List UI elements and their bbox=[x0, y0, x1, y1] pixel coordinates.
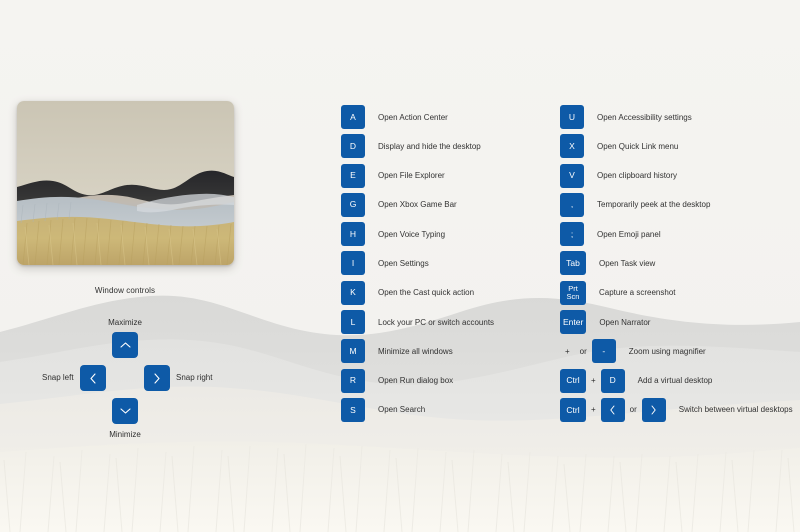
shortcut-row: KOpen the Cast quick action bbox=[341, 281, 494, 310]
shortcut-description: Open Xbox Game Bar bbox=[378, 193, 457, 217]
chevron-right-icon bbox=[153, 373, 161, 384]
shortcut-row: +or-Zoom using magnifier bbox=[560, 339, 793, 368]
shortcut-keys: XOpen Quick Link menu bbox=[560, 134, 678, 158]
shortcut-description: Open Run dialog box bbox=[378, 369, 453, 393]
shortcut-row: ,Temporarily peek at the desktop bbox=[560, 193, 793, 222]
shortcut-keys: AOpen Action Center bbox=[341, 105, 448, 129]
shortcut-description: Open the Cast quick action bbox=[378, 281, 474, 305]
shortcut-keys: IOpen Settings bbox=[341, 251, 429, 275]
shortcut-description: Zoom using magnifier bbox=[629, 339, 706, 363]
window-controls-cluster: Maximize Snap left Snap right Minimize bbox=[0, 310, 250, 440]
shortcut-keys: Ctrl+orSwitch between virtual desktops bbox=[560, 398, 793, 422]
shortcut-description: Open Narrator bbox=[599, 310, 650, 334]
chevron-up-icon bbox=[120, 341, 131, 349]
shortcut-keys: MMinimize all windows bbox=[341, 339, 453, 363]
shortcut-description: Open Search bbox=[378, 398, 425, 422]
shortcut-description: Open Emoji panel bbox=[597, 222, 661, 246]
key-joiner-plus: + bbox=[586, 398, 601, 422]
shortcut-description: Open Voice Typing bbox=[378, 222, 445, 246]
shortcut-row: Ctrl+orSwitch between virtual desktops bbox=[560, 398, 793, 427]
shortcut-row: IOpen Settings bbox=[341, 251, 494, 280]
shortcut-description: Add a virtual desktop bbox=[638, 369, 713, 393]
key-g[interactable]: G bbox=[341, 193, 365, 217]
shortcut-keys: Prt ScnCapture a screenshot bbox=[560, 281, 676, 305]
shortcut-row: EOpen File Explorer bbox=[341, 164, 494, 193]
shortcut-row: TabOpen Task view bbox=[560, 251, 793, 280]
key-tab[interactable]: Tab bbox=[560, 251, 586, 275]
key-s[interactable]: S bbox=[341, 398, 365, 422]
shortcut-row: ;Open Emoji panel bbox=[560, 222, 793, 251]
key-m[interactable]: M bbox=[341, 339, 365, 363]
shortcut-keys: DDisplay and hide the desktop bbox=[341, 134, 481, 158]
shortcut-keys: TabOpen Task view bbox=[560, 251, 655, 275]
shortcut-keys: EnterOpen Narrator bbox=[560, 310, 650, 334]
key-r[interactable]: R bbox=[341, 369, 365, 393]
shortcut-keys: LLock your PC or switch accounts bbox=[341, 310, 494, 334]
shortcut-keys: Ctrl+DAdd a virtual desktop bbox=[560, 369, 712, 393]
shortcut-row: GOpen Xbox Game Bar bbox=[341, 193, 494, 222]
shortcut-description: Open File Explorer bbox=[378, 164, 445, 188]
shortcut-keys: ROpen Run dialog box bbox=[341, 369, 453, 393]
chevron-left-icon bbox=[609, 405, 616, 415]
window-control-minimize[interactable] bbox=[112, 398, 138, 424]
shortcut-row: ROpen Run dialog box bbox=[341, 369, 494, 398]
shortcut-keys: KOpen the Cast quick action bbox=[341, 281, 474, 305]
key-comma[interactable]: , bbox=[560, 193, 584, 217]
shortcut-row: UOpen Accessibility settings bbox=[560, 105, 793, 134]
window-control-maximize[interactable] bbox=[112, 332, 138, 358]
key-v[interactable]: V bbox=[560, 164, 584, 188]
key-minus[interactable]: - bbox=[592, 339, 616, 363]
window-control-label-snap-left: Snap left bbox=[42, 373, 74, 382]
key-i[interactable]: I bbox=[341, 251, 365, 275]
chevron-left-icon bbox=[89, 373, 97, 384]
shortcut-column-left: AOpen Action CenterDDisplay and hide the… bbox=[341, 105, 494, 427]
shortcut-description: Switch between virtual desktops bbox=[679, 398, 793, 422]
window-control-label-minimize: Minimize bbox=[0, 430, 250, 439]
key-joiner-or: or bbox=[575, 339, 592, 363]
shortcut-row: MMinimize all windows bbox=[341, 339, 494, 368]
shortcut-keys: +or-Zoom using magnifier bbox=[560, 339, 706, 363]
shortcut-row: VOpen clipboard history bbox=[560, 164, 793, 193]
key-joiner-or: or bbox=[625, 398, 642, 422]
key-prt-scn[interactable]: Prt Scn bbox=[560, 281, 586, 305]
key-a[interactable]: A bbox=[341, 105, 365, 129]
shortcut-keys: ;Open Emoji panel bbox=[560, 222, 661, 246]
shortcut-keys: EOpen File Explorer bbox=[341, 164, 445, 188]
key-joiner-plus: + bbox=[560, 339, 575, 363]
shortcut-row: XOpen Quick Link menu bbox=[560, 134, 793, 163]
window-control-snap-right[interactable] bbox=[144, 365, 170, 391]
key-joiner-plus: + bbox=[586, 369, 601, 393]
key-x[interactable]: X bbox=[560, 134, 584, 158]
window-control-label-maximize: Maximize bbox=[0, 318, 250, 327]
shortcut-description: Open Quick Link menu bbox=[597, 134, 678, 158]
key-l[interactable]: L bbox=[341, 310, 365, 334]
key-chevron-right[interactable] bbox=[642, 398, 666, 422]
window-control-label-snap-right: Snap right bbox=[176, 373, 212, 382]
window-control-snap-left[interactable] bbox=[80, 365, 106, 391]
shortcut-row: Prt ScnCapture a screenshot bbox=[560, 281, 793, 310]
key-d[interactable]: D bbox=[341, 134, 365, 158]
key-ctrl[interactable]: Ctrl bbox=[560, 398, 586, 422]
shortcut-keys: HOpen Voice Typing bbox=[341, 222, 445, 246]
shortcut-description: Capture a screenshot bbox=[599, 281, 676, 305]
chevron-right-icon bbox=[650, 405, 657, 415]
shortcut-description: Open Task view bbox=[599, 251, 655, 275]
shortcut-description: Open Action Center bbox=[378, 105, 448, 129]
shortcut-row: SOpen Search bbox=[341, 398, 494, 427]
shortcut-description: Minimize all windows bbox=[378, 339, 453, 363]
key-enter[interactable]: Enter bbox=[560, 310, 586, 334]
shortcut-column-right: UOpen Accessibility settingsXOpen Quick … bbox=[560, 105, 793, 427]
key-ctrl[interactable]: Ctrl bbox=[560, 369, 586, 393]
key-d[interactable]: D bbox=[601, 369, 625, 393]
wallpaper-thumbnail[interactable] bbox=[17, 101, 234, 265]
shortcut-row: HOpen Voice Typing bbox=[341, 222, 494, 251]
shortcut-keys: VOpen clipboard history bbox=[560, 164, 677, 188]
key-semicolon[interactable]: ; bbox=[560, 222, 584, 246]
shortcut-row: EnterOpen Narrator bbox=[560, 310, 793, 339]
shortcut-row: AOpen Action Center bbox=[341, 105, 494, 134]
shortcut-keys: GOpen Xbox Game Bar bbox=[341, 193, 457, 217]
shortcut-description: Temporarily peek at the desktop bbox=[597, 193, 710, 217]
shortcut-keys: ,Temporarily peek at the desktop bbox=[560, 193, 710, 217]
shortcut-description: Open Accessibility settings bbox=[597, 105, 692, 129]
key-h[interactable]: H bbox=[341, 222, 365, 246]
shortcut-description: Lock your PC or switch accounts bbox=[378, 310, 494, 334]
shortcut-description: Open Settings bbox=[378, 251, 429, 275]
key-e[interactable]: E bbox=[341, 164, 365, 188]
shortcut-description: Open clipboard history bbox=[597, 164, 677, 188]
chevron-down-icon bbox=[120, 407, 131, 415]
key-chevron-left[interactable] bbox=[601, 398, 625, 422]
shortcut-keys: UOpen Accessibility settings bbox=[560, 105, 692, 129]
shortcut-row: Ctrl+DAdd a virtual desktop bbox=[560, 369, 793, 398]
shortcut-row: DDisplay and hide the desktop bbox=[341, 134, 494, 163]
thumbnail-caption: Window controls bbox=[0, 286, 250, 295]
shortcut-description: Display and hide the desktop bbox=[378, 134, 481, 158]
key-u[interactable]: U bbox=[560, 105, 584, 129]
shortcut-row: LLock your PC or switch accounts bbox=[341, 310, 494, 339]
key-k[interactable]: K bbox=[341, 281, 365, 305]
shortcut-keys: SOpen Search bbox=[341, 398, 425, 422]
